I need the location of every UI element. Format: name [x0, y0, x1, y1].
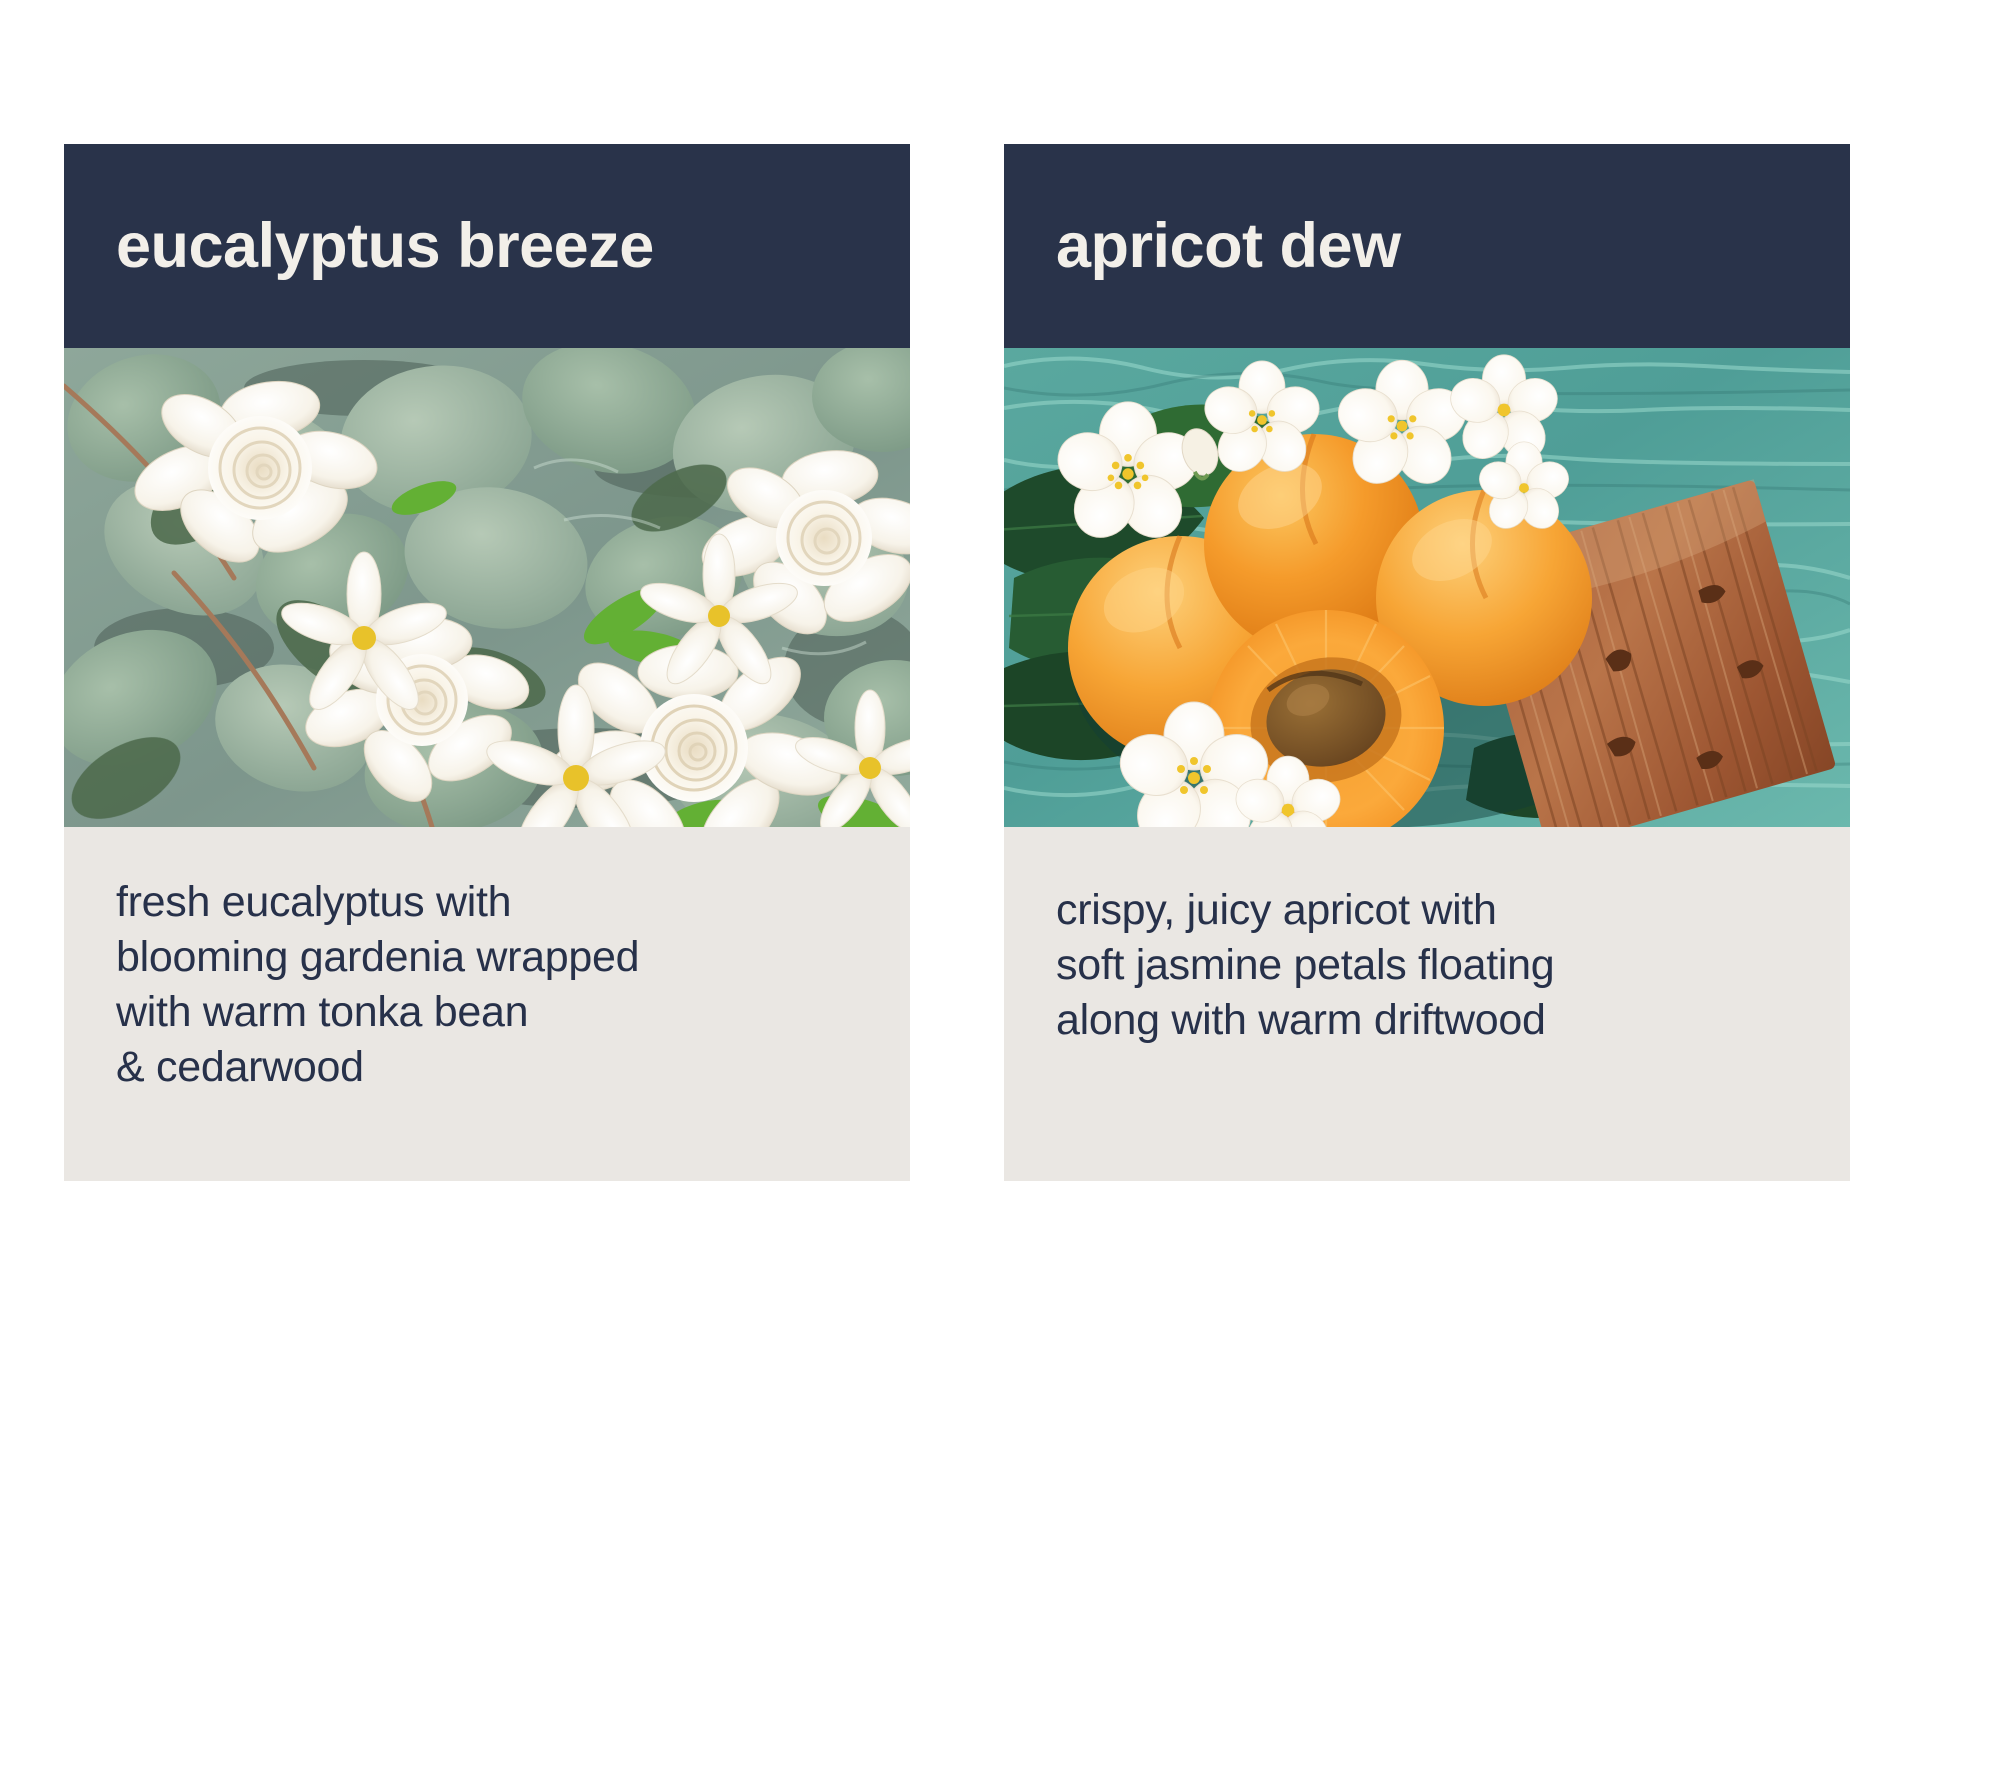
eucalyptus-gardenia-illustration	[64, 348, 910, 827]
card-body: fresh eucalyptus with blooming gardenia …	[64, 827, 910, 1181]
card-header: apricot dew	[1004, 144, 1850, 348]
card-description: crispy, juicy apricot with soft jasmine …	[1056, 883, 1798, 1048]
card-title: eucalyptus breeze	[116, 213, 654, 279]
card-header: eucalyptus breeze	[64, 144, 910, 348]
scent-card-eucalyptus-breeze[interactable]: eucalyptus breeze	[64, 144, 910, 1181]
card-description: fresh eucalyptus with blooming gardenia …	[116, 875, 858, 1095]
scent-card-grid: eucalyptus breeze	[64, 144, 1850, 1181]
scent-card-apricot-dew[interactable]: apricot dew	[1004, 144, 1850, 1181]
card-title: apricot dew	[1056, 213, 1401, 279]
apricot-driftwood-illustration	[1004, 348, 1850, 827]
apricot-driftwood-image	[1004, 348, 1850, 827]
card-body: crispy, juicy apricot with soft jasmine …	[1004, 827, 1850, 1134]
eucalyptus-gardenia-image	[64, 348, 910, 827]
